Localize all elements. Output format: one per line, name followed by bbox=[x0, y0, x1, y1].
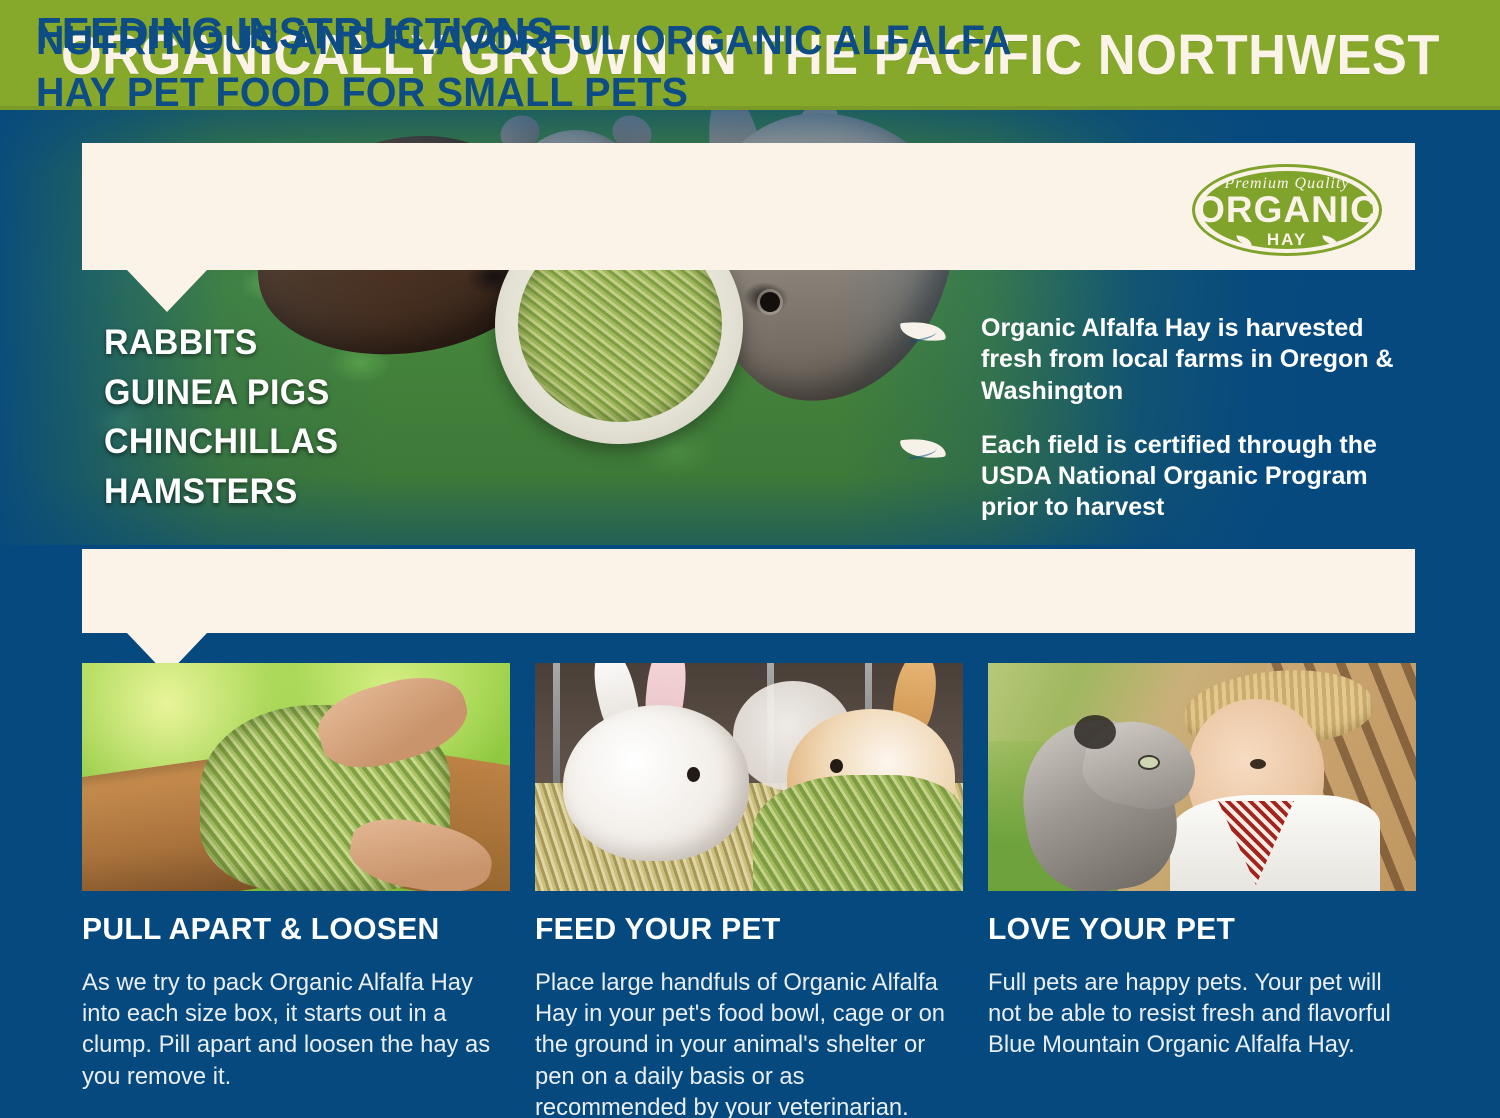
photo-bunnies-eating-hay bbox=[535, 663, 963, 891]
step-body: Place large handfuls of Organic Alfalfa … bbox=[535, 967, 959, 1118]
pet-list-item: HAMSTERS bbox=[104, 467, 424, 517]
feeding-step-love-your-pet: LOVE YOUR PET Full pets are happy pets. … bbox=[988, 663, 1416, 1118]
step-title: PULL APART & LOOSEN bbox=[82, 913, 497, 944]
step-title: LOVE YOUR PET bbox=[988, 913, 1403, 944]
feeding-instructions-panel bbox=[82, 549, 1415, 633]
feeding-step-pull-apart: PULL APART & LOOSEN As we try to pack Or… bbox=[82, 663, 510, 1118]
feeding-instructions-title: FEEDING INSTRUCTIONS bbox=[36, 12, 555, 56]
leaf-icon bbox=[901, 321, 945, 342]
product-facts-list: Organic Alfalfa Hay is harvested fresh f… bbox=[897, 313, 1407, 578]
photo-boy-kissing-baby-goat bbox=[988, 663, 1416, 891]
seal-organic-text: ORGANIC bbox=[1192, 191, 1382, 228]
feeding-step-feed-your-pet: FEED YOUR PET Place large handfuls of Or… bbox=[535, 663, 963, 1118]
step-body: Full pets are happy pets. Your pet will … bbox=[988, 967, 1412, 1061]
step-body: As we try to pack Organic Alfalfa Hay in… bbox=[82, 967, 506, 1092]
pet-list-item: RABBITS bbox=[104, 318, 424, 368]
headline-panel-tail bbox=[127, 270, 207, 312]
pet-list-item: GUINEA PIGS bbox=[104, 368, 424, 418]
suitable-pets-list: RABBITS GUINEA PIGS CHINCHILLAS HAMSTERS bbox=[104, 318, 434, 517]
bullet-text: Each field is certified through the USDA… bbox=[981, 431, 1377, 522]
pet-list-item: CHINCHILLAS bbox=[104, 417, 424, 467]
feeding-steps: PULL APART & LOOSEN As we try to pack Or… bbox=[82, 663, 1418, 1118]
organic-hay-seal-badge: Premium Quality ORGANIC HAY bbox=[1192, 164, 1382, 256]
step-title: FEED YOUR PET bbox=[535, 913, 950, 944]
bullet-text: Organic Alfalfa Hay is harvested fresh f… bbox=[981, 314, 1394, 405]
list-item: Each field is certified through the USDA… bbox=[897, 430, 1407, 524]
product-infographic: ORGANICALLY GROWN IN THE PACIFIC NORTHWE… bbox=[0, 0, 1500, 1118]
leaf-icon bbox=[901, 438, 945, 459]
seal-hay-text: HAY bbox=[1192, 230, 1382, 250]
list-item: Organic Alfalfa Hay is harvested fresh f… bbox=[897, 313, 1407, 407]
photo-hands-pulling-hay-from-box bbox=[82, 663, 510, 891]
